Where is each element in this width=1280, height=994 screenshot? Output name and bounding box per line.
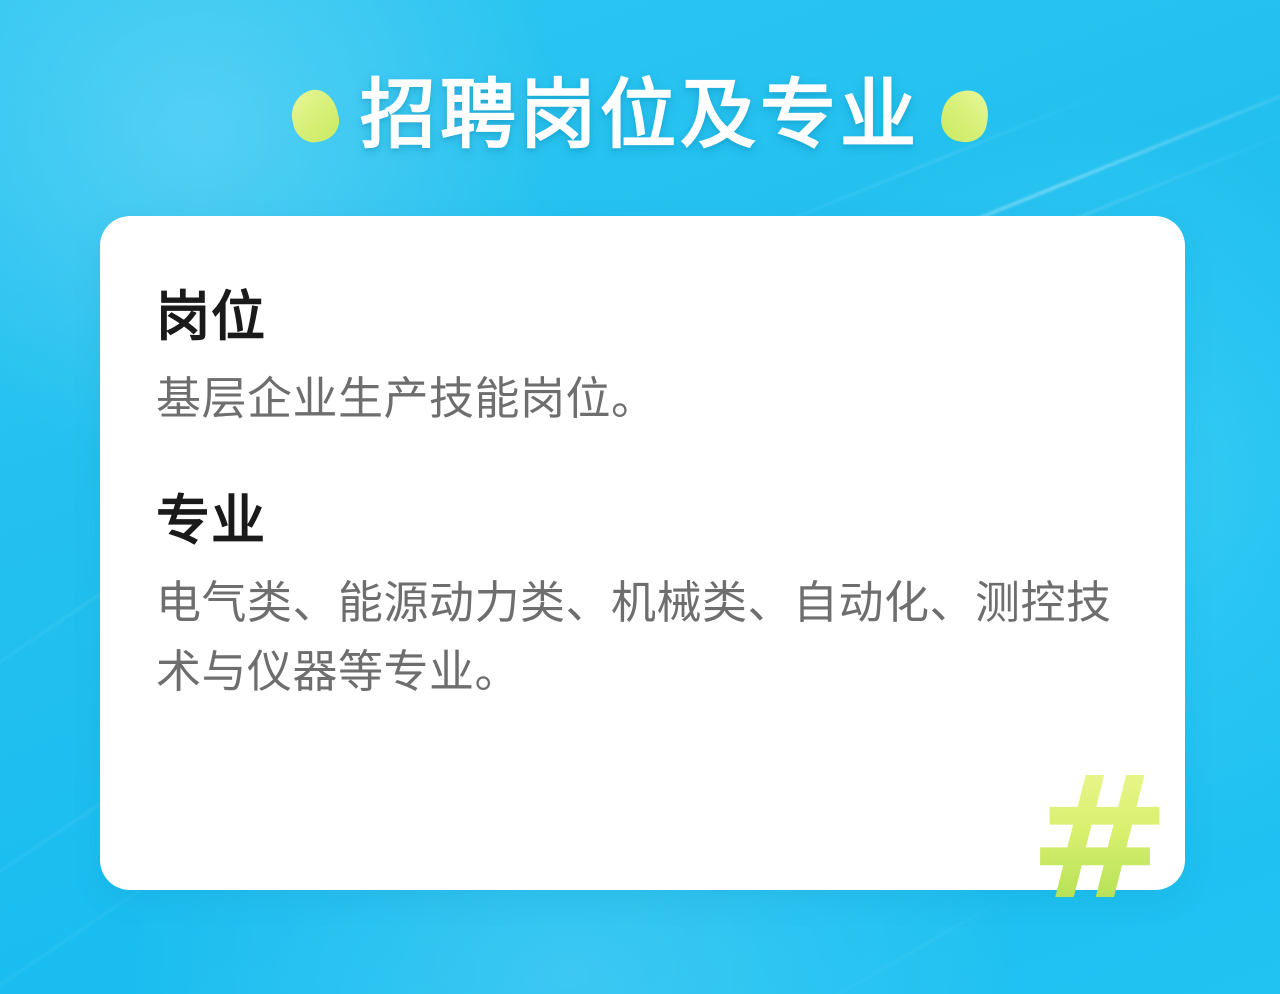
leaf-blob-right-icon — [937, 86, 993, 146]
content-card: 岗位 基层企业生产技能岗位。 专业 电气类、能源动力类、机械类、自动化、测控技术… — [100, 216, 1185, 890]
section-position: 岗位 基层企业生产技能岗位。 — [156, 288, 1129, 434]
section-body-position: 基层企业生产技能岗位。 — [156, 365, 1129, 433]
page-title: 招聘岗位及专业 — [360, 78, 920, 154]
section-heading-position: 岗位 — [156, 288, 1129, 347]
hash-icon: # — [1029, 754, 1171, 924]
leaf-blob-left-icon — [287, 86, 343, 146]
light-ray-icon — [780, 877, 1041, 994]
section-major: 专业 电气类、能源动力类、机械类、自动化、测控技术与仪器等专业。 — [156, 492, 1129, 706]
card-content: 岗位 基层企业生产技能岗位。 专业 电气类、能源动力类、机械类、自动化、测控技术… — [156, 288, 1129, 706]
poster-root: 招聘岗位及专业 岗位 基层企业生产技能岗位。 专业 电气类、能源动力类、机械类、… — [0, 0, 1280, 994]
poster-header: 招聘岗位及专业 — [0, 62, 1280, 170]
section-heading-major: 专业 — [156, 492, 1129, 551]
section-body-major: 电气类、能源动力类、机械类、自动化、测控技术与仪器等专业。 — [156, 569, 1129, 706]
